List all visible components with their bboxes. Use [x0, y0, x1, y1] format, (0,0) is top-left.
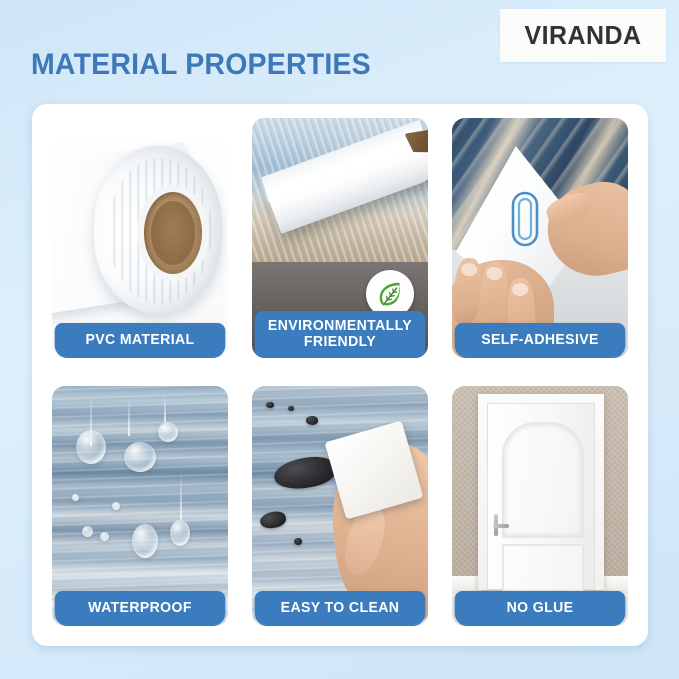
feature-tile-self-adhesive: SELF-ADHESIVE	[452, 118, 628, 358]
infographic-page: VIRANDA MATERIAL PROPERTIES PVC MATERIAL	[0, 0, 679, 679]
fingernail	[512, 283, 528, 297]
features-grid: PVC MATERIAL	[52, 118, 628, 626]
feature-label-pvc-material: PVC MATERIAL	[55, 323, 226, 358]
drip-trail	[180, 472, 182, 520]
brand-logo: VIRANDA	[500, 9, 666, 62]
page-title: MATERIAL PROPERTIES	[31, 48, 371, 82]
feature-label-environmentally-friendly: ENVIRONMENTALLY FRIENDLY	[255, 311, 426, 358]
door	[487, 403, 595, 590]
ink-stain	[266, 402, 274, 408]
water-droplet	[124, 442, 156, 472]
brand-name: VIRANDA	[524, 20, 641, 51]
feature-tile-pvc-material: PVC MATERIAL	[52, 118, 228, 358]
feature-tile-waterproof: WATERPROOF	[52, 386, 228, 626]
water-droplet	[72, 494, 79, 501]
drip-trail	[128, 396, 130, 436]
water-droplet	[82, 526, 93, 537]
feature-label-waterproof: WATERPROOF	[55, 591, 226, 626]
water-droplet	[76, 430, 106, 464]
fingernail	[486, 267, 503, 281]
feature-label-self-adhesive: SELF-ADHESIVE	[455, 323, 626, 358]
water-droplet	[100, 532, 109, 541]
water-droplet	[112, 502, 120, 510]
label-line-2: FRIENDLY	[304, 334, 376, 350]
ink-stain	[288, 406, 294, 411]
feature-tile-easy-to-clean: EASY TO CLEAN	[252, 386, 428, 626]
feature-tile-environmentally-friendly: ENVIRONMENTALLY FRIENDLY	[252, 118, 428, 358]
water-droplet	[170, 520, 190, 546]
roll-cardboard-core	[144, 192, 202, 274]
feature-tile-no-glue: NO GLUE	[452, 386, 628, 626]
door-panel-top	[502, 422, 584, 538]
water-droplet	[132, 524, 158, 558]
ink-stain	[306, 416, 318, 425]
leaf-icon	[375, 279, 405, 309]
feature-label-easy-to-clean: EASY TO CLEAN	[255, 591, 426, 626]
drip-trail	[164, 394, 166, 422]
paperclip-icon	[510, 190, 540, 253]
fingernail	[461, 262, 478, 277]
label-line-1: ENVIRONMENTALLY	[268, 318, 412, 334]
door-handle-lever	[493, 524, 509, 528]
ink-stain	[294, 538, 302, 545]
feature-label-no-glue: NO GLUE	[455, 591, 626, 626]
door-frame	[478, 394, 604, 590]
water-droplet	[158, 422, 178, 442]
door-panel-bottom	[502, 544, 584, 592]
